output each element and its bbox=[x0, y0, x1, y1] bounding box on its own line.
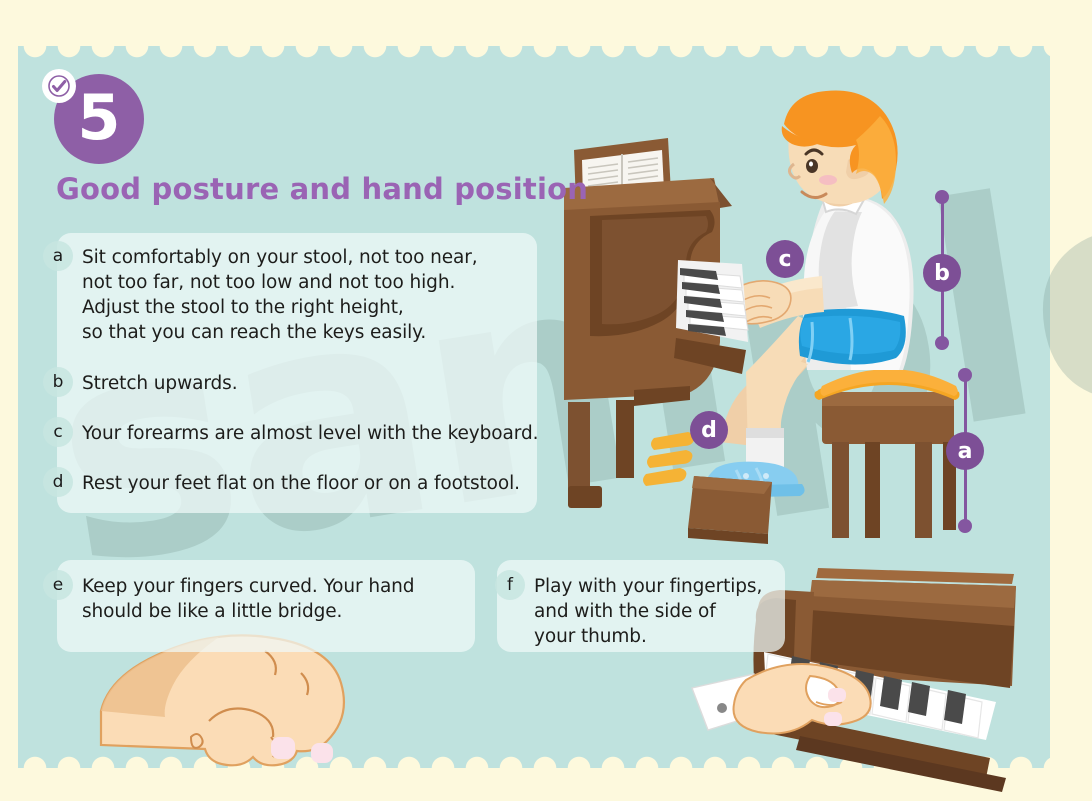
step-badge: 5 bbox=[54, 74, 144, 164]
list-item-text: Play with your fingertips, and with the … bbox=[534, 574, 762, 649]
list-item-text: Sit comfortably on your stool, not too n… bbox=[82, 245, 478, 345]
list-item-text: Keep your fingers curved. Your hand shou… bbox=[82, 574, 414, 624]
list-item-c: c Your forearms are almost level with th… bbox=[43, 421, 538, 447]
pin-label: c bbox=[778, 247, 791, 272]
measure-dot-bottom bbox=[935, 336, 949, 350]
list-marker: f bbox=[495, 570, 525, 600]
pin-d: d bbox=[690, 411, 728, 449]
piano-pedals bbox=[643, 432, 694, 486]
list-item-text: Stretch upwards. bbox=[82, 371, 238, 396]
list-item-a: a Sit comfortably on your stool, not too… bbox=[43, 245, 478, 345]
list-item-e: e Keep your fingers curved. Your hand sh… bbox=[43, 574, 414, 624]
upright-piano bbox=[564, 138, 772, 544]
piano-stool bbox=[815, 369, 960, 538]
list-item-f: f Play with your fingertips, and with th… bbox=[495, 574, 762, 649]
illustration-boy-at-piano bbox=[560, 90, 1020, 560]
pin-label: b bbox=[934, 261, 950, 286]
list-marker: c bbox=[43, 417, 73, 447]
pin-label: a bbox=[958, 439, 973, 464]
pin-c: c bbox=[766, 240, 804, 278]
pin-a: a bbox=[946, 432, 984, 470]
check-icon bbox=[42, 69, 76, 103]
measure-dot-top bbox=[958, 368, 972, 382]
pin-label: d bbox=[701, 418, 717, 443]
list-marker: e bbox=[43, 570, 73, 600]
list-marker: a bbox=[43, 241, 73, 271]
pin-b: b bbox=[923, 254, 961, 292]
list-item-d: d Rest your feet flat on the floor or on… bbox=[43, 471, 520, 497]
list-marker: d bbox=[43, 467, 73, 497]
list-marker: b bbox=[43, 367, 73, 397]
list-item-b: b Stretch upwards. bbox=[43, 371, 238, 397]
measure-dot-top bbox=[935, 190, 949, 204]
scallop-edge-top bbox=[18, 46, 1050, 64]
list-item-text: Your forearms are almost level with the … bbox=[82, 421, 538, 446]
page-root: sample bbox=[0, 0, 1092, 801]
measure-dot-bottom bbox=[958, 519, 972, 533]
list-item-text: Rest your feet flat on the floor or on a… bbox=[82, 471, 520, 496]
page-title: Good posture and hand position bbox=[56, 172, 588, 206]
